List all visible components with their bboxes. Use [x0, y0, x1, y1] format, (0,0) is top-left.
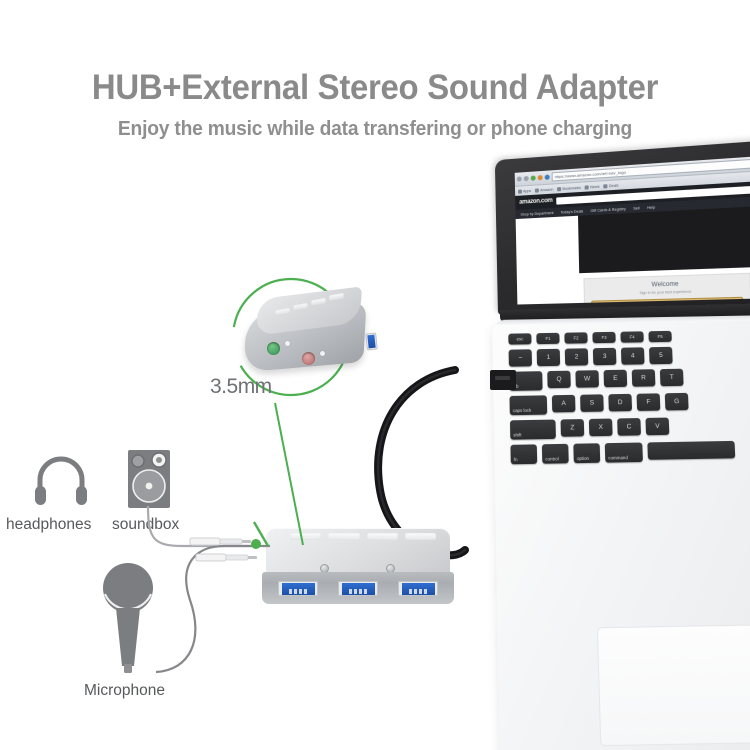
peripheral-group: headphones soundbox Microphone: [0, 440, 280, 730]
usb-contact-block: [342, 583, 375, 595]
hero-banner[interactable]: fireTV Now with Alexa $49: [578, 204, 750, 273]
key-g[interactable]: G: [665, 393, 689, 411]
headphones-label: headphones: [6, 516, 91, 534]
laptop-lid: https://www.amazon.com/ref=nav_logo Apps…: [495, 138, 750, 315]
sign-in-button[interactable]: Sign in securely: [591, 297, 743, 305]
favicon-icon: [535, 188, 539, 192]
site-content: fireTV Now with Alexa $49 Welcome Sign i…: [578, 204, 750, 303]
usb-port-3[interactable]: [398, 581, 438, 596]
key-f2[interactable]: F2: [564, 332, 587, 343]
plug-lead-green: [252, 520, 282, 560]
nav-item[interactable]: Help: [647, 205, 655, 210]
usb-pin: [364, 589, 367, 594]
key-t[interactable]: T: [660, 369, 684, 387]
bookmark-item[interactable]: Amazon: [535, 187, 553, 192]
usb-pin: [424, 589, 427, 594]
hub-indicator: [405, 533, 436, 540]
key-f3[interactable]: F3: [592, 332, 615, 343]
back-icon[interactable]: [517, 176, 522, 181]
trackpad[interactable]: [597, 624, 750, 746]
favicon-icon: [518, 189, 522, 193]
nav-item[interactable]: Sell: [633, 206, 639, 211]
key-option[interactable]: option: [573, 443, 600, 463]
key-f4[interactable]: F4: [620, 331, 643, 342]
usb-pin: [354, 589, 357, 594]
key-f5[interactable]: F5: [648, 331, 671, 342]
hub-indicator: [328, 533, 359, 540]
key-esc[interactable]: esc: [508, 333, 531, 344]
microphone-glyph-icon: [320, 351, 325, 356]
key-2[interactable]: 2: [565, 348, 589, 365]
key-a[interactable]: A: [552, 395, 576, 413]
callout-label: 3.5mm: [210, 375, 272, 399]
website-amazon: amazon.com Your Account Shop by Departme…: [515, 179, 750, 305]
key-3[interactable]: 3: [593, 348, 617, 365]
bookmark-icon[interactable]: [545, 175, 550, 180]
usb-pin: [349, 589, 352, 594]
key-c[interactable]: C: [617, 418, 641, 436]
page-subtitle: Enjoy the music while data transfering o…: [15, 118, 735, 141]
key-v[interactable]: V: [645, 418, 669, 436]
zoom-callout: 3.5mm: [215, 275, 390, 425]
key-q[interactable]: Q: [547, 371, 571, 389]
key-f1[interactable]: F1: [536, 333, 559, 344]
home-icon[interactable]: [538, 175, 543, 180]
headphone-glyph-icon: [285, 341, 290, 346]
headphone-jack[interactable]: [267, 342, 280, 355]
usb-pin: [294, 589, 297, 594]
bookmark-item[interactable]: News: [585, 184, 600, 189]
reload-icon[interactable]: [531, 175, 536, 180]
key-4[interactable]: 4: [621, 347, 645, 364]
usb-pin: [359, 589, 362, 594]
usb-pin: [414, 589, 417, 594]
usb-pin: [419, 589, 422, 594]
microphone-jack[interactable]: [302, 352, 315, 365]
bookmark-item[interactable]: Deals: [604, 183, 619, 188]
keyboard-row-function: esc F1 F2 F3 F4 F5: [508, 328, 750, 345]
nav-item[interactable]: Today's Deals: [560, 209, 583, 214]
key-s[interactable]: S: [580, 394, 604, 412]
usb-contact-block: [367, 335, 375, 349]
bookmark-item[interactable]: Bookmarks: [557, 185, 581, 191]
bookmark-item[interactable]: Apps: [518, 188, 531, 193]
usb-pin: [304, 589, 307, 594]
site-body: fireTV Now with Alexa $49 Welcome Sign i…: [516, 204, 750, 305]
page-title: HUB+External Stereo Sound Adapter: [23, 68, 728, 108]
site-logo[interactable]: amazon.com: [519, 198, 552, 206]
key-w[interactable]: W: [575, 370, 599, 388]
nav-item[interactable]: Shop by Department: [520, 210, 553, 216]
usb-pin: [409, 589, 412, 594]
forward-icon[interactable]: [524, 176, 529, 181]
key-f[interactable]: F: [637, 393, 661, 411]
favicon-icon: [604, 184, 608, 188]
key-e[interactable]: E: [604, 370, 628, 388]
microphone-label: Microphone: [84, 682, 165, 700]
key-z[interactable]: Z: [561, 419, 585, 437]
key-space[interactable]: [647, 441, 735, 460]
hub-indicator: [367, 533, 398, 540]
usb-contact-block: [402, 583, 435, 595]
usb-port-zoomed[interactable]: [365, 332, 378, 350]
headphones-icon: [30, 450, 92, 512]
key-r[interactable]: R: [632, 369, 656, 387]
nav-item[interactable]: Gift Cards & Registry: [590, 206, 625, 212]
hub-front-face: [262, 572, 454, 604]
usb-port-2[interactable]: [338, 581, 378, 596]
site-sidebar: [516, 216, 580, 305]
favicon-icon: [557, 187, 561, 191]
key-x[interactable]: X: [589, 419, 613, 437]
key-command[interactable]: command: [605, 442, 643, 462]
usb-pin: [299, 589, 302, 594]
laptop-screen: https://www.amazon.com/ref=nav_logo Apps…: [515, 153, 750, 304]
product-marketing-image: HUB+External Stereo Sound Adapter Enjoy …: [0, 0, 750, 750]
favicon-icon: [585, 185, 589, 189]
welcome-card: Welcome Sign in for your best experience…: [583, 273, 750, 305]
key-5[interactable]: 5: [649, 347, 673, 364]
key-d[interactable]: D: [608, 394, 632, 412]
